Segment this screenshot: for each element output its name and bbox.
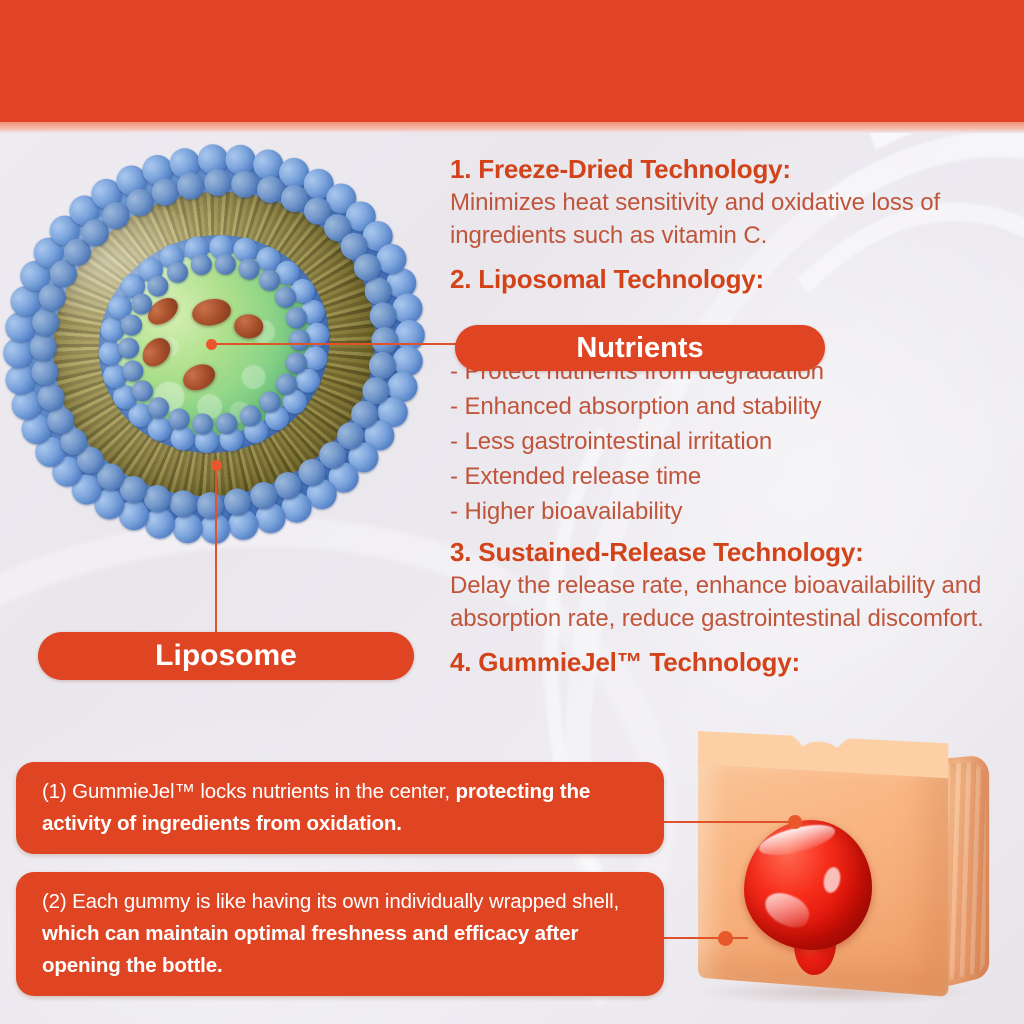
- section-3-heading: 3. Sustained-Release Technology:: [450, 535, 1020, 569]
- gummy-illustration: [672, 735, 1017, 1020]
- list-item: - Less gastrointestinal irritation: [450, 424, 1020, 459]
- nutrients-anchor-dot: [206, 339, 217, 350]
- callout-box-1[interactable]: (1) GummieJel™ locks nutrients in the ce…: [16, 762, 664, 854]
- callout-2-leader-line: [664, 937, 748, 939]
- section-1-body: Minimizes heat sensitivity and oxidative…: [450, 186, 1020, 252]
- section-4-heading: 4. GummieJel™ Technology:: [450, 645, 1020, 679]
- nutrients-leader-line: [212, 343, 460, 345]
- callout-1-leader-line: [664, 821, 794, 823]
- list-item: - Higher bioavailability: [450, 494, 1020, 529]
- callout-2-anchor-dot: [718, 931, 733, 946]
- section-1-heading: 1. Freeze-Dried Technology:: [450, 152, 1020, 186]
- callout-box-2[interactable]: (2) Each gummy is like having its own in…: [16, 872, 664, 996]
- callout-2-bold: which can maintain optimal freshness and…: [42, 922, 578, 977]
- callout-1-anchor-dot: [788, 815, 802, 829]
- header-accent-strip: [0, 122, 1024, 133]
- section-3-body: Delay the release rate, enhance bioavail…: [450, 569, 1020, 635]
- liposome-label-pill[interactable]: Liposome: [38, 632, 414, 680]
- technology-list: 1. Freeze-Dried Technology: Minimizes he…: [450, 152, 1020, 679]
- header-banner: [0, 0, 1024, 122]
- callout-2-plain: (2) Each gummy is like having its own in…: [42, 890, 619, 913]
- list-item: - Extended release time: [450, 459, 1020, 494]
- liposome-leader-line: [215, 465, 217, 637]
- section-2-heading: 2. Liposomal Technology:: [450, 262, 1020, 296]
- nutrients-label-pill[interactable]: Nutrients: [455, 325, 825, 371]
- list-item: - Enhanced absorption and stability: [450, 389, 1020, 424]
- liposome-anchor-dot: [211, 460, 222, 471]
- infographic-page: 4 Core Technologies Lock in Activity, Hi…: [0, 0, 1024, 1024]
- liposome-illustration: [4, 150, 444, 550]
- section-2-bullets: - Protect nutrients from degradation - E…: [450, 354, 1020, 529]
- callout-1-plain: (1) GummieJel™ locks nutrients in the ce…: [42, 780, 456, 803]
